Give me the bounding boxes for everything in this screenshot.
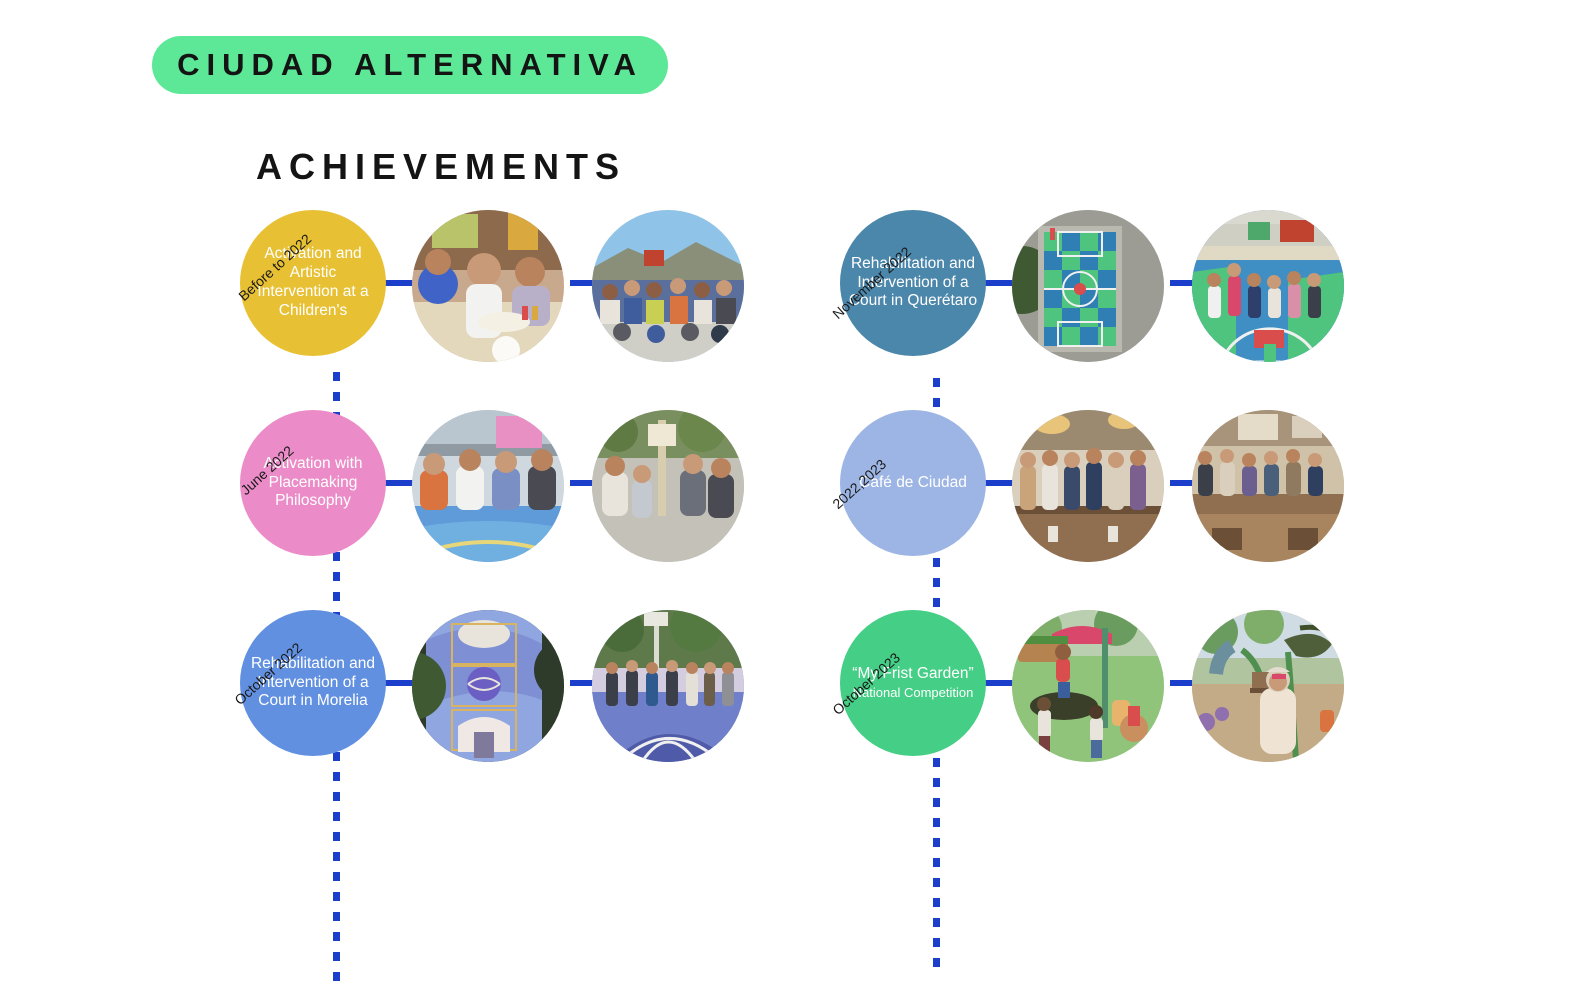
queretaro-court-celebration-photo — [1192, 210, 1344, 362]
children-craft-workshop-photo — [412, 210, 564, 362]
brand-title: CIUDAD ALTERNATIVA — [177, 47, 643, 83]
my-first-garden-rendering-photo — [1012, 610, 1164, 762]
morelia-court-team-photo — [592, 610, 744, 762]
queretaro-court-aerial-photo — [1012, 210, 1164, 362]
page-title: ACHIEVEMENTS — [256, 146, 626, 188]
street-activation-outdoor-photo — [592, 410, 744, 562]
cafe-de-ciudad-group-photo — [1012, 410, 1164, 562]
community-group-portrait-photo — [592, 210, 744, 362]
placemaking-planning-table-photo — [412, 410, 564, 562]
my-first-garden-park-photo — [1192, 610, 1344, 762]
morelia-court-aerial-photo — [412, 610, 564, 762]
brand-badge: CIUDAD ALTERNATIVA — [152, 36, 668, 94]
cafe-de-ciudad-session-photo — [1192, 410, 1344, 562]
